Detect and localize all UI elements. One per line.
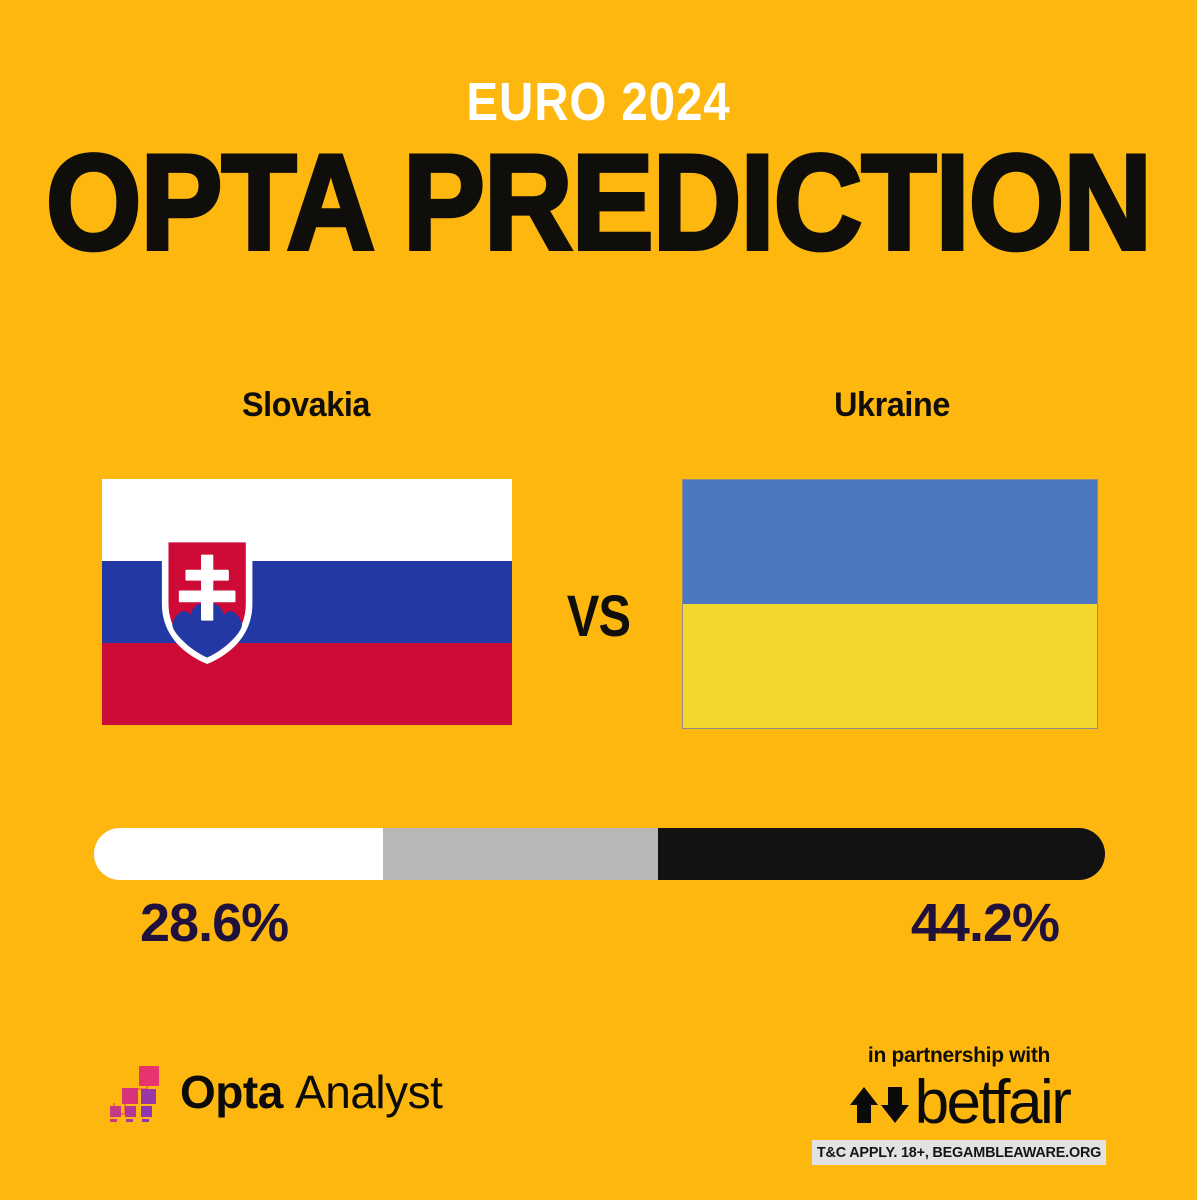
probability-value-away: 44.2% [911,894,1059,952]
terms-bar: T&C APPLY. 18+, BEGAMBLEAWARE.ORG [812,1140,1106,1165]
opta-analyst-logo: Opta Analyst [108,1062,442,1122]
probability-segment-away [658,828,1105,880]
footer: Opta Analyst in partnership with betfair… [0,1040,1197,1200]
probability-section: 28.6% 44.2% [94,828,1105,954]
opta-staircase-icon [108,1062,164,1122]
page-title: OPTA PREDICTION [24,144,1173,263]
probability-bar [94,828,1105,880]
team-home-name: Slovakia [107,386,506,432]
flag-band-blue [683,480,1097,604]
opta-analyst-wordmark: Opta Analyst [180,1068,442,1116]
team-away-flag-wrap [682,479,1098,729]
opta-word: Opta [180,1066,283,1118]
analyst-word: Analyst [295,1066,442,1118]
probability-segment-draw [383,828,658,880]
team-away: Ukraine [682,386,1102,432]
flag-band-yellow [683,604,1097,728]
probability-value-home: 28.6% [140,894,288,952]
matchup-section: Slovakia [0,386,1197,731]
partner-kicker: in partnership with [809,1044,1109,1068]
team-home: Slovakia [96,386,516,432]
betfair-logo: betfair [809,1074,1109,1132]
partner-block: in partnership with betfair T&C APPLY. 1… [809,1044,1109,1165]
betfair-arrows-icon [849,1079,911,1127]
terms-text: T&C APPLY. 18+, BEGAMBLEAWARE.ORG [817,1144,1101,1161]
probability-labels: 28.6% 44.2% [94,894,1105,954]
team-away-name: Ukraine [693,386,1092,432]
opta-prediction-graphic: EURO 2024 OPTA PREDICTION Slovakia [0,0,1197,1200]
probability-segment-home [94,828,383,880]
betfair-wordmark: betfair [915,1074,1070,1132]
header: EURO 2024 OPTA PREDICTION [0,74,1197,256]
competition-kicker: EURO 2024 [72,74,1125,130]
ukraine-flag [682,479,1098,729]
